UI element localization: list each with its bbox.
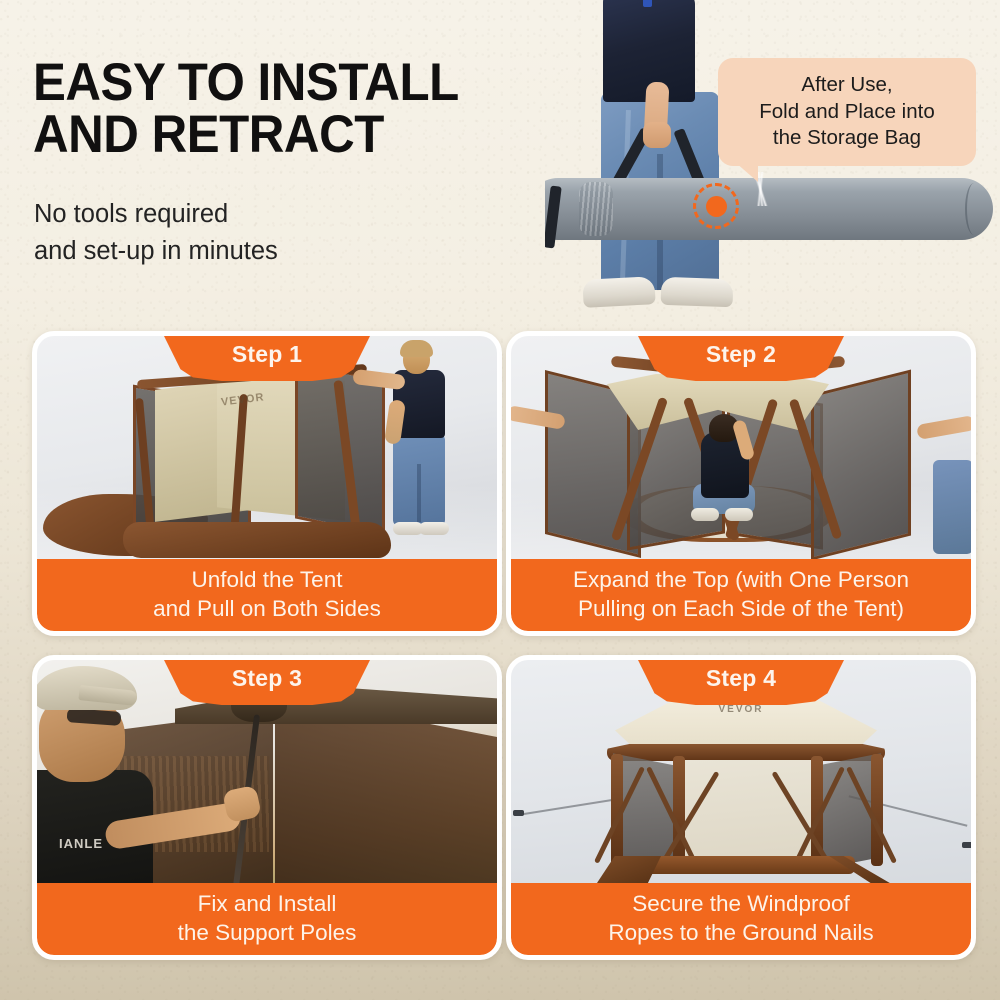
- step-4-caption-line-1: Secure the Windproof: [608, 890, 873, 919]
- step-4-caption: Secure the Windproof Ropes to the Ground…: [511, 883, 971, 955]
- corner-post-far-right: [871, 754, 883, 866]
- step-4-photo: VEVOR Step 4: [511, 660, 971, 898]
- step-3-photo: IANLE Step 3: [37, 660, 497, 898]
- ground-nail-right: [962, 842, 971, 848]
- step-card-2[interactable]: Step 2 Expand the Top (with One Person P…: [506, 331, 976, 636]
- page-subtitle: No tools required and set-up in minutes: [34, 196, 454, 269]
- helper-legs: [393, 434, 445, 526]
- step-4-badge-label: Step 4: [706, 660, 776, 690]
- page-title: EASY TO INSTALL AND RETRACT: [33, 57, 470, 162]
- tent-eave-trim: [607, 744, 885, 761]
- step-2-badge-label: Step 2: [706, 336, 776, 366]
- step-card-4[interactable]: VEVOR Step 4 Secure the Windp: [506, 655, 976, 960]
- person-hand: [643, 122, 671, 148]
- subhead-line-2: and set-up in minutes: [34, 233, 454, 270]
- tent-base-band: [639, 856, 855, 874]
- step-1-badge: Step 1: [164, 336, 370, 381]
- step-2-badge: Step 2: [638, 336, 844, 381]
- infographic-page: EASY TO INSTALL AND RETRACT No tools req…: [0, 0, 1000, 1000]
- step-3-caption-line-2: the Support Poles: [178, 919, 357, 948]
- step-2-caption: Expand the Top (with One Person Pulling …: [511, 559, 971, 631]
- subhead-line-1: No tools required: [34, 196, 454, 233]
- step-4-caption-line-2: Ropes to the Ground Nails: [608, 919, 873, 948]
- person-left-shoe: [582, 276, 655, 308]
- step-3-badge-label: Step 3: [232, 660, 302, 690]
- step-3-caption-line-1: Fix and Install: [178, 890, 357, 919]
- tent-brand-logo: VEVOR: [718, 704, 763, 715]
- callout-line-1: After Use,: [759, 72, 935, 99]
- step-card-1[interactable]: VEVOR Step 1 Unfold the Tent and Pull on…: [32, 331, 502, 636]
- helper-shoe-right: [419, 522, 449, 535]
- tent-wall-far-right: [811, 370, 911, 561]
- helper-right-person-legs: [933, 460, 971, 554]
- step-2-photo: Step 2: [511, 336, 971, 574]
- step-4-badge: Step 4: [638, 660, 844, 705]
- step-1-badge-label: Step 1: [232, 336, 302, 366]
- tent-skirt: [123, 522, 391, 558]
- step-1-caption-line-2: and Pull on Both Sides: [153, 595, 381, 624]
- corner-post-left: [673, 756, 685, 866]
- ground-nail-left: [513, 810, 524, 816]
- callout-line-3: the Storage Bag: [759, 125, 935, 152]
- person-right-shoe: [661, 277, 734, 307]
- step-1-caption: Unfold the Tent and Pull on Both Sides: [37, 559, 497, 631]
- callout-line-2: Fold and Place into: [759, 99, 935, 126]
- callout-bubble-storage-bag: After Use, Fold and Place into the Stora…: [718, 58, 976, 166]
- tshirt-print: IANLE: [59, 836, 103, 851]
- kneeling-person-shoe-left: [691, 508, 719, 521]
- kneeling-person-shoe-right: [725, 508, 753, 521]
- step-3-caption: Fix and Install the Support Poles: [37, 883, 497, 955]
- step-2-caption-line-1: Expand the Top (with One Person: [573, 566, 909, 595]
- hero-section: EASY TO INSTALL AND RETRACT No tools req…: [0, 0, 1000, 325]
- tent-screen-wall-back: [679, 760, 815, 868]
- step-1-photo: VEVOR Step 1: [37, 336, 497, 574]
- step-2-caption-line-2: Pulling on Each Side of the Tent): [573, 595, 909, 624]
- headline-line-1: EASY TO INSTALL: [33, 53, 459, 112]
- step-3-badge: Step 3: [164, 660, 370, 705]
- headline-line-2: AND RETRACT: [33, 109, 470, 161]
- orange-target-marker-icon: [693, 183, 739, 229]
- step-1-caption-line-1: Unfold the Tent: [153, 566, 381, 595]
- helper-hair: [400, 340, 433, 357]
- highlight-rays: [731, 172, 791, 206]
- step-card-3[interactable]: IANLE Step 3 Fix and Install the Support…: [32, 655, 502, 960]
